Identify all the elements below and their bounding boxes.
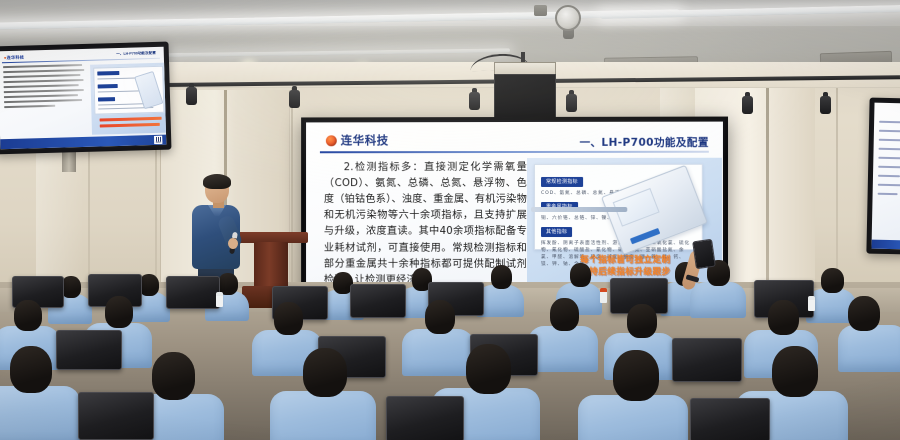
side-display-right (866, 98, 900, 255)
desk-monitor (690, 398, 770, 440)
side-display-left: ●连华科技 一、LH-P700功能及配置 (0, 42, 171, 155)
mini-body-text (3, 64, 86, 111)
qr-code-icon (154, 135, 162, 143)
mini-spec-card (93, 66, 164, 115)
track-spotlight (289, 86, 300, 108)
audience-member (0, 346, 80, 440)
ceiling-speaker-dome (555, 5, 581, 31)
presenter-hand (228, 238, 238, 249)
mini-slide-title: 一、LH-P700功能及配置 (116, 51, 156, 57)
led-light-strip (600, 4, 900, 19)
track-spotlight (742, 92, 753, 114)
water-bottle (600, 288, 607, 303)
slide-title: 一、LH-P700功能及配置 (580, 135, 709, 150)
spec-section-1-chip: 常规检测指标 (541, 176, 583, 186)
side-display-right-footer (871, 240, 900, 250)
brand-name: 连华科技 (341, 132, 389, 148)
audience-member-photographing (690, 252, 746, 312)
desk-monitor (78, 392, 154, 440)
mini-divider (2, 58, 160, 63)
desk-monitor (350, 284, 406, 318)
smoke-detector (534, 5, 547, 16)
side-display-left-screen: ●连华科技 一、LH-P700功能及配置 (0, 47, 166, 150)
track-spotlight (566, 90, 577, 112)
water-bottle (216, 292, 223, 307)
audience-member (270, 348, 376, 440)
door-seam (766, 88, 769, 293)
conference-room-photo: ●连华科技 一、LH-P700功能及配置 (0, 0, 900, 440)
spec-section-3-chip: 其他指标 (541, 227, 572, 237)
mini-tagline (100, 117, 162, 130)
smartphone (692, 239, 716, 270)
track-spotlight (186, 83, 197, 105)
mini-panel (90, 63, 166, 135)
tv-wall-mount-arm (62, 150, 76, 172)
audience-member (578, 350, 688, 440)
track-spotlight (820, 92, 831, 114)
presenter-hair (203, 174, 231, 189)
device-pointer-line (531, 207, 627, 212)
brand-logo-icon (326, 135, 337, 146)
spec-card: 常规检测指标 COD、氨氮、总磷、总氮、悬浮物、色度、浊度 重金属指标 铜、六价… (534, 164, 703, 250)
desk-monitor (166, 276, 220, 309)
projector-unit (494, 74, 556, 120)
slide-header-divider (320, 151, 709, 153)
slide-logo: 连华科技 (326, 132, 389, 148)
desk-monitor (386, 396, 464, 440)
wall-panel-seam (836, 88, 838, 293)
track-spotlight (469, 88, 480, 110)
mini-footer-bar (0, 135, 166, 150)
side-display-right-screen (871, 103, 900, 250)
mini-logo: ●连华科技 (4, 55, 24, 62)
